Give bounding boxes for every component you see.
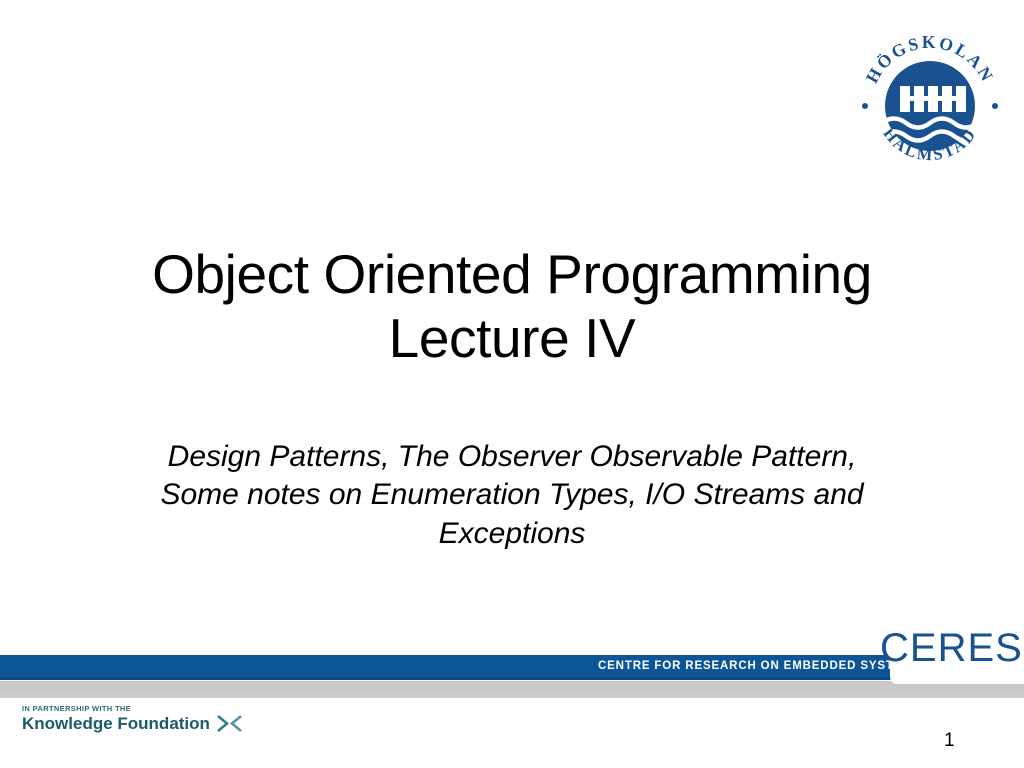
slide-footer: CENTRE FOR RESEARCH ON EMBEDDED SYSTEMS <box>0 638 1024 768</box>
partner-name: Knowledge Foundation <box>22 715 210 732</box>
slide-title: Object Oriented Programming Lecture IV <box>62 243 962 371</box>
page-number: 1 <box>944 730 955 752</box>
partner-name-row: Knowledge Foundation <box>22 715 202 732</box>
footer-gray-band-lower <box>0 692 1024 698</box>
title-block: Object Oriented Programming Lecture IV <box>62 243 962 371</box>
ceres-wordmark: CERES <box>880 628 1023 668</box>
presentation-slide: HÖGSKOLAN HALMSTAD <box>0 0 1024 768</box>
hogskolan-halmstad-logo: HÖGSKOLAN HALMSTAD <box>856 24 1004 180</box>
slide-subtitle: Design Patterns, The Observer Observable… <box>132 438 892 553</box>
chevron-pair-icon <box>217 715 243 732</box>
knowledge-foundation-logo: IN PARTNERSHIP WITH THE Knowledge Founda… <box>22 705 202 739</box>
subtitle-block: Design Patterns, The Observer Observable… <box>132 438 892 553</box>
partner-kicker: IN PARTNERSHIP WITH THE <box>22 705 202 713</box>
